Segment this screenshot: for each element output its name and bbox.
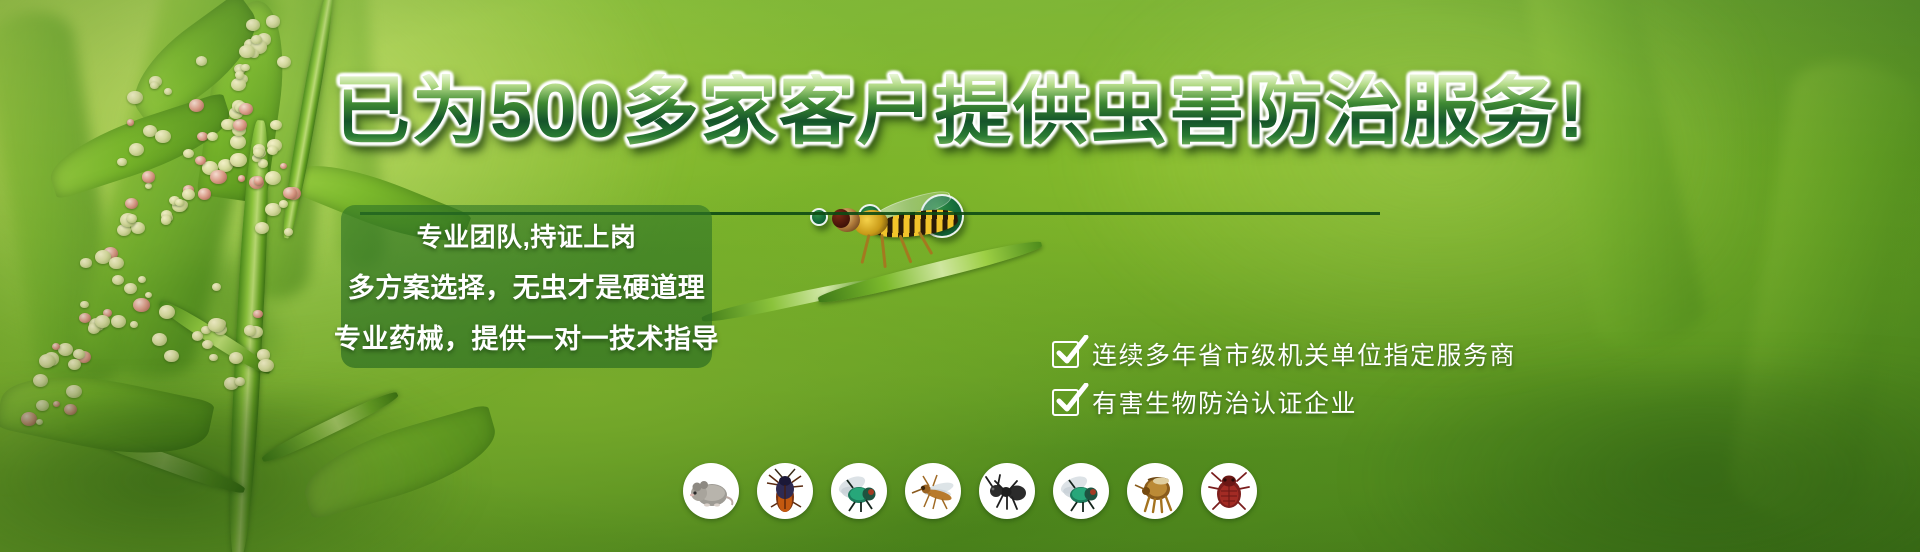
- cockroach-icon[interactable]: [757, 463, 813, 519]
- hoverfly-photo: [820, 190, 1050, 320]
- feature-panel: 专业团队,持证上岗 多方案选择，无虫才是硬道理 专业药械，提供一对一技术指导: [341, 205, 712, 368]
- checklist-item: 有害生物防治认证企业: [1052, 378, 1612, 426]
- checklist-item: 连续多年省市级机关单位指定服务商: [1052, 330, 1612, 378]
- background-shadow-left: [0, 392, 480, 552]
- housefly-icon[interactable]: [1053, 463, 1109, 519]
- page-title: 已为500多家客户提供虫害防治服务!: [0, 74, 1920, 150]
- flea-icon[interactable]: [1127, 463, 1183, 519]
- pest-icon-row: [683, 463, 1257, 519]
- checkbox-checked-icon: [1052, 341, 1079, 368]
- fly-leg: [860, 234, 870, 264]
- ant-icon[interactable]: [979, 463, 1035, 519]
- bedbug-icon[interactable]: [1201, 463, 1257, 519]
- checklist-item-label: 有害生物防治认证企业: [1092, 384, 1357, 420]
- rodent-icon[interactable]: [683, 463, 739, 519]
- fly-leg: [880, 234, 887, 268]
- checklist-item-label: 连续多年省市级机关单位指定服务商: [1092, 336, 1516, 372]
- credentials-checklist: 连续多年省市级机关单位指定服务商 有害生物防治认证企业: [1052, 330, 1612, 426]
- promo-banner: 已为500多家客户提供虫害防治服务! 已为500多家客户提供虫害防治服务! 专业…: [0, 0, 1920, 552]
- feature-line-2: 多方案选择，无虫才是硬道理: [348, 266, 706, 305]
- blowfly-icon[interactable]: [831, 463, 887, 519]
- feature-line-3: 专业药械，提供一对一技术指导: [334, 317, 719, 356]
- mosquito-icon[interactable]: [905, 463, 961, 519]
- feature-line-1: 专业团队,持证上岗: [417, 217, 637, 254]
- checkbox-checked-icon: [1052, 389, 1079, 416]
- fly-leg: [898, 235, 912, 264]
